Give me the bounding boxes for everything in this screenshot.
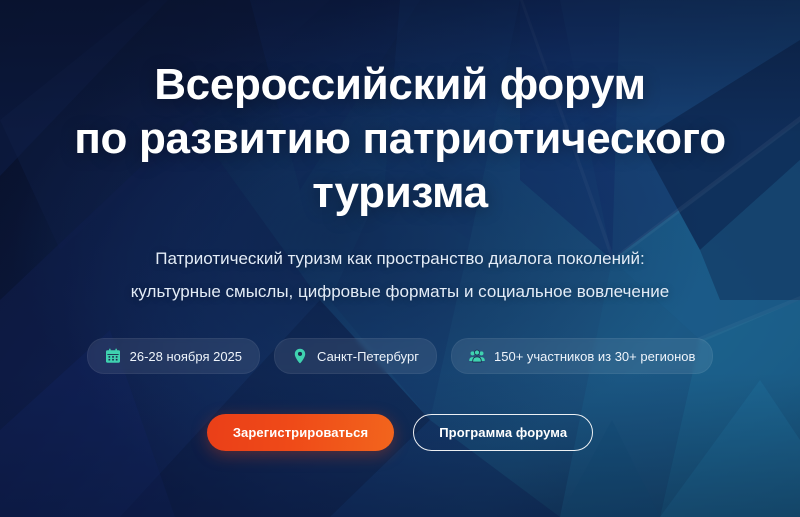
page-title-line-2: по развитию патриотического [74, 112, 726, 166]
page-title-line-1: Всероссийский форум [74, 58, 726, 112]
page-subtitle-line-1: Патриотический туризм как пространство д… [131, 242, 669, 275]
people-group-icon [469, 348, 485, 364]
hero-banner: Всероссийский форум по развитию патриоти… [0, 0, 800, 517]
program-button[interactable]: Программа форума [413, 414, 593, 451]
register-button[interactable]: Зарегистрироваться [207, 414, 394, 451]
info-pill-participants-label: 150+ участников из 30+ регионов [494, 350, 695, 363]
info-pill-date-label: 26-28 ноября 2025 [130, 350, 242, 363]
hero-content: Всероссийский форум по развитию патриоти… [0, 0, 800, 517]
page-title-line-3: туризма [74, 166, 726, 220]
page-title: Всероссийский форум по развитию патриоти… [34, 58, 766, 220]
info-pill-date: 26-28 ноября 2025 [87, 338, 260, 374]
location-pin-icon [292, 348, 308, 364]
info-pill-location-label: Санкт-Петербург [317, 350, 419, 363]
info-pill-participants: 150+ участников из 30+ регионов [451, 338, 713, 374]
page-subtitle-line-2: культурные смыслы, цифровые форматы и со… [131, 275, 669, 308]
cta-button-group: Зарегистрироваться Программа форума [207, 414, 593, 451]
calendar-icon [105, 348, 121, 364]
page-subtitle: Патриотический туризм как пространство д… [71, 242, 729, 308]
info-pill-location: Санкт-Петербург [274, 338, 437, 374]
info-pill-list: 26-28 ноября 2025 Санкт-Петербург [87, 338, 714, 374]
